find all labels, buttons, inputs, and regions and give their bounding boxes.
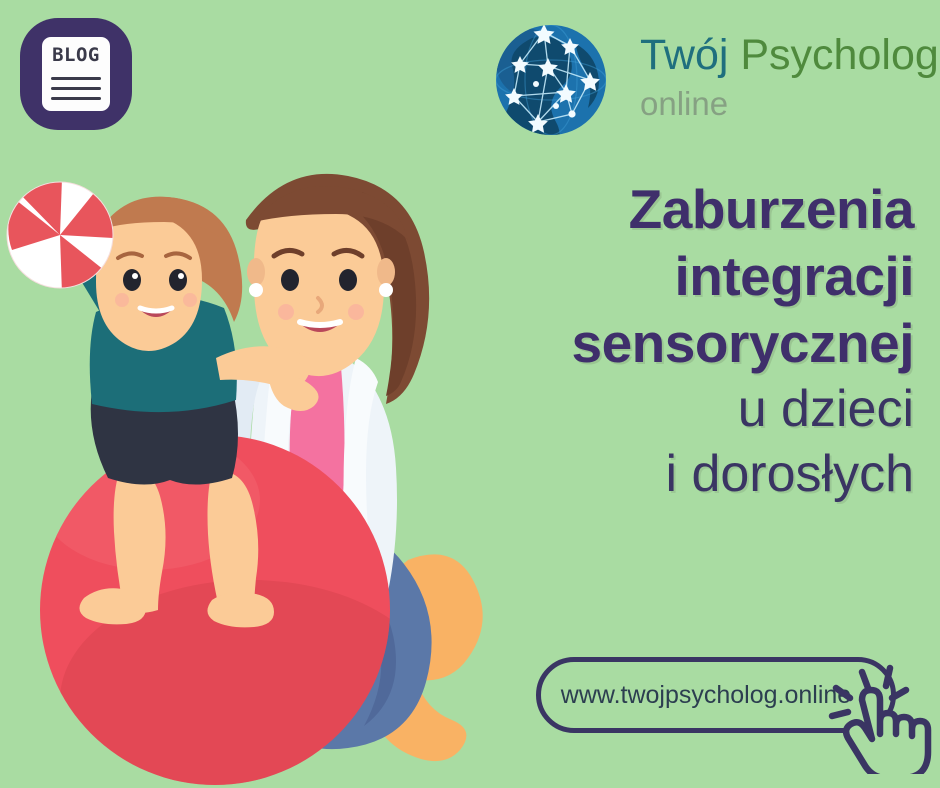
brand-subtitle: online xyxy=(640,84,728,124)
blog-label: BLOG xyxy=(42,44,110,66)
brand-word-twoj: Twój xyxy=(640,31,728,79)
brand-word-psycholog: Psycholog xyxy=(740,31,938,79)
therapist-child-illustration xyxy=(0,100,520,788)
poster-canvas: BLOG xyxy=(0,0,940,788)
brand-title: Twój Psycholog xyxy=(640,30,939,80)
blog-line-3 xyxy=(51,97,101,100)
website-url-label[interactable]: www.twojpsycholog.online xyxy=(556,679,856,711)
pointing-hand-click-icon xyxy=(818,652,936,774)
headline-line-3: sensorycznej xyxy=(444,310,914,377)
headline-line-5: i dorosłych xyxy=(444,442,914,507)
blog-document-icon: BLOG xyxy=(42,37,110,111)
headline-line-2: integracji xyxy=(444,243,914,310)
page-title: Zaburzenia integracji sensorycznej u dzi… xyxy=(444,176,914,507)
headline-line-4: u dzieci xyxy=(444,377,914,442)
globe-network-icon xyxy=(492,22,610,138)
blog-line-2 xyxy=(51,87,101,90)
headline-line-1: Zaburzenia xyxy=(444,176,914,243)
blog-line-1 xyxy=(51,77,101,80)
blog-badge[interactable]: BLOG xyxy=(20,18,132,130)
